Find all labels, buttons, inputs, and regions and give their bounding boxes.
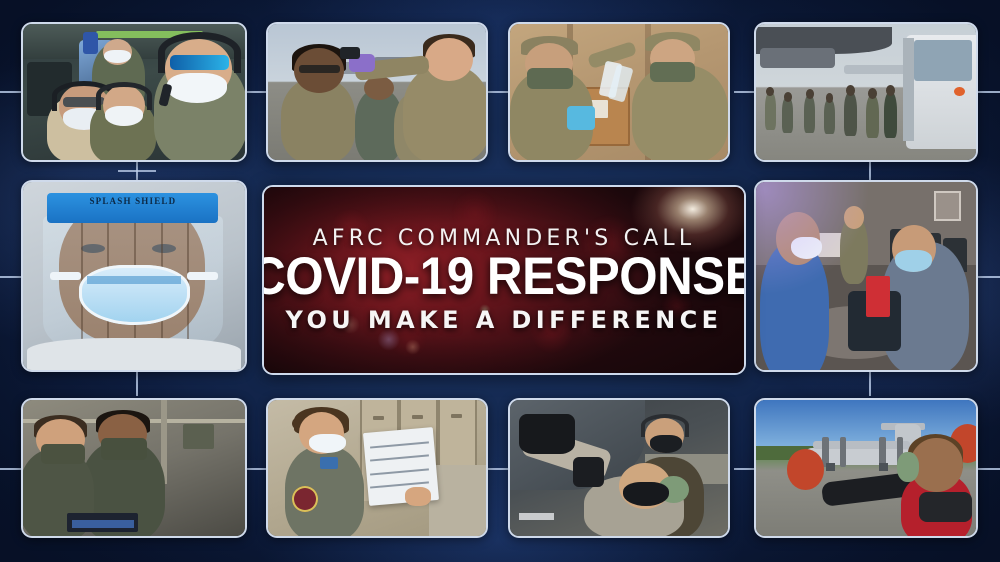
photo-face-shield: SPLASH SHIELD <box>23 182 245 370</box>
photo-deplaning-to-bus <box>756 24 976 160</box>
photo-tile-deplaning-to-bus <box>754 22 978 162</box>
banner-text-block: AFRC COMMANDER'S CALL COVID-19 RESPONSE … <box>264 187 744 373</box>
photo-supply-distribution <box>510 24 728 160</box>
photo-aircraft-maintenance <box>510 400 728 536</box>
connector-line-h6 <box>0 91 22 93</box>
photo-laptop-tent <box>23 400 245 536</box>
photo-tile-checklist-lockers <box>266 398 488 538</box>
connector-line-h9 <box>246 468 268 470</box>
connector-line-h13 <box>0 468 22 470</box>
connector-line-h11 <box>734 468 756 470</box>
photo-tile-face-shield: SPLASH SHIELD <box>21 180 247 372</box>
connector-line-h4 <box>734 91 756 93</box>
photo-tile-laptop-tent <box>21 398 247 538</box>
photo-tile-gear-handoff <box>754 180 978 372</box>
connector-line-h2 <box>246 91 268 93</box>
banner-headline: COVID-19 RESPONSE <box>262 250 746 303</box>
connector-line-h10 <box>487 468 509 470</box>
connector-line-h7 <box>0 276 22 278</box>
photo-tile-aircrew-cockpit <box>21 22 247 162</box>
photo-gear-handoff <box>756 182 976 370</box>
photo-marshaller-c130 <box>756 400 976 536</box>
photo-aircrew-cockpit <box>23 24 245 160</box>
photo-tile-aircraft-maintenance <box>508 398 730 538</box>
title-banner: AFRC COMMANDER'S CALL COVID-19 RESPONSE … <box>262 185 746 375</box>
connector-line-h12 <box>978 468 1000 470</box>
connector-line-h5 <box>978 91 1000 93</box>
photo-checklist-lockers <box>268 400 486 536</box>
connector-line-h3 <box>487 91 509 93</box>
photo-tile-temperature-check <box>266 22 488 162</box>
collage-graphic: SPLASH SHIELD AFRC COMMANDER'S CALL COVI… <box>0 0 1000 562</box>
connector-line-h8 <box>978 276 1000 278</box>
face-shield-brand-text: SPLASH SHIELD <box>47 196 218 206</box>
photo-tile-supply-distribution <box>508 22 730 162</box>
banner-subhead: YOU MAKE A DIFFERENCE <box>286 306 723 334</box>
photo-temperature-check <box>268 24 486 160</box>
photo-tile-marshaller-c130 <box>754 398 978 538</box>
